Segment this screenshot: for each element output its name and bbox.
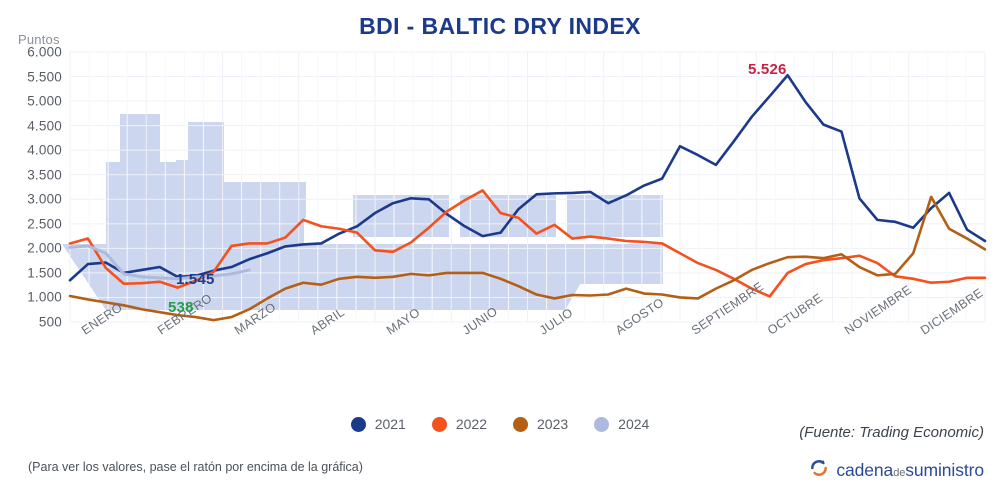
page-title: BDI - BALTIC DRY INDEX xyxy=(0,13,1000,40)
y-axis-tick-label: 4.500 xyxy=(27,118,62,133)
y-axis-tick-label: 5.000 xyxy=(27,94,62,109)
legend-label: 2021 xyxy=(375,416,406,432)
data-label: 538 xyxy=(168,299,194,316)
legend-item-2024[interactable]: 2024 xyxy=(594,416,649,432)
brand-text: cadenadesuministro xyxy=(836,460,984,481)
legend-item-2021[interactable]: 2021 xyxy=(351,416,406,432)
data-label: 1.545 xyxy=(176,271,215,288)
legend-label: 2022 xyxy=(456,416,487,432)
y-axis-tick-label: 3.500 xyxy=(27,167,62,182)
y-axis-tick-label: 500 xyxy=(39,315,62,330)
legend-item-2022[interactable]: 2022 xyxy=(432,416,487,432)
y-axis: 6.0005.5005.0004.5004.0003.5003.0002.500… xyxy=(0,52,62,322)
brand-suministro: suministro xyxy=(905,460,984,480)
refresh-circle-icon xyxy=(809,458,829,483)
chart-page: BDI - BALTIC DRY INDEX Puntos 6.0005.500… xyxy=(0,0,1000,500)
y-axis-tick-label: 1.500 xyxy=(27,265,62,280)
interaction-hint: (Para ver los valores, pase el ratón por… xyxy=(28,460,363,474)
y-axis-tick-label: 3.000 xyxy=(27,192,62,207)
x-axis: ENEROFEBREROMARZOABRILMAYOJUNIOJULIOAGOS… xyxy=(70,326,985,396)
legend-label: 2023 xyxy=(537,416,568,432)
legend-swatch-icon xyxy=(432,417,447,432)
data-label: 5.526 xyxy=(748,61,787,78)
legend-swatch-icon xyxy=(594,417,609,432)
legend-label: 2024 xyxy=(618,416,649,432)
y-axis-tick-label: 2.500 xyxy=(27,216,62,231)
y-axis-tick-label: 5.500 xyxy=(27,69,62,84)
brand-de: de xyxy=(893,467,905,479)
legend-item-2023[interactable]: 2023 xyxy=(513,416,568,432)
cargo-ship-silhouette-icon xyxy=(62,114,663,310)
legend-swatch-icon xyxy=(351,417,366,432)
y-axis-tick-label: 1.000 xyxy=(27,290,62,305)
legend-swatch-icon xyxy=(513,417,528,432)
y-axis-tick-label: 2.000 xyxy=(27,241,62,256)
brand-logo: cadenadesuministro xyxy=(809,458,984,483)
y-axis-tick-label: 6.000 xyxy=(27,45,62,60)
brand-cadena: cadena xyxy=(836,460,893,480)
source-caption: (Fuente: Trading Economic) xyxy=(799,424,984,441)
y-axis-tick-label: 4.000 xyxy=(27,143,62,158)
